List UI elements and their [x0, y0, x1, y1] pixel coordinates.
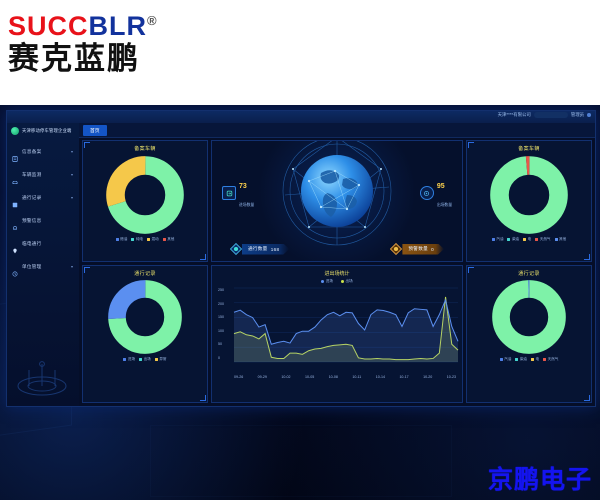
y-tick-label: 100 [218, 329, 224, 333]
sidebar-item-label: 临电通行 [22, 241, 42, 247]
tab-home[interactable]: 首页 [83, 125, 107, 136]
x-tick-label: 10-23 [447, 375, 456, 379]
ribbon-value: 0 [431, 247, 434, 252]
tab-bar: 首页 [79, 123, 595, 138]
ribbon-label: 预警数量 [408, 246, 428, 252]
donut-svg [492, 280, 566, 354]
line-chart-legend: 进场 出场 [212, 277, 462, 284]
legend-item: 纯电 [131, 237, 143, 242]
legend-bottom-left: 进场 出场 异常 [83, 357, 207, 362]
bell-icon [12, 218, 18, 224]
legend-label: 其他 [167, 237, 174, 242]
donut-svg [490, 156, 568, 234]
x-tick-label: 09-29 [258, 375, 267, 379]
entry-icon [222, 186, 236, 200]
donut-svg [106, 156, 184, 234]
legend-label: 进场 [128, 357, 135, 362]
legend-top-left: 燃油 纯电 混动 其他 [83, 237, 207, 242]
legend-label: 电 [536, 357, 540, 362]
legend-label: 其他 [559, 237, 566, 242]
legend-item: 天然气 [535, 237, 550, 242]
donut-chart-bottom-left [83, 277, 207, 357]
ribbon-value: 168 [271, 247, 280, 252]
card-title: 备案车辆 [467, 141, 591, 152]
pin-icon [12, 241, 18, 247]
legend-label: 混动 [152, 237, 159, 242]
sidebar-item-record[interactable]: 信息备案 ▾ [7, 140, 79, 163]
ribbon-pass-count: 通行数量 168 [230, 243, 289, 255]
stat-value: 73 [239, 183, 247, 190]
document-icon [12, 149, 18, 155]
sidebar-logo-icon [11, 127, 19, 135]
y-tick-label: 200 [218, 302, 224, 306]
ribbon-text: 通行数量 168 [242, 244, 289, 255]
logo-blr-text: BLR [89, 11, 148, 41]
card-title: 通行记录 [467, 266, 591, 277]
list-icon [12, 195, 18, 201]
x-tick-label: 10-08 [329, 375, 338, 379]
sidebar-item-temp-pass[interactable]: 临电通行 [7, 232, 79, 255]
logo-chinese-name: 赛克蓝鹏 [8, 41, 158, 77]
app-topbar: 天津****有限公司 管理员 [7, 111, 595, 123]
x-tick-label: 10-14 [376, 375, 385, 379]
x-tick-label: 10-05 [305, 375, 314, 379]
legend-item: 汽油 [492, 237, 504, 242]
legend-top-right: 汽油 柴油 电 天然气 其他 [467, 237, 591, 242]
sidebar-watermark-icon [15, 356, 69, 400]
legend-item: 天然气 [543, 357, 558, 362]
content-area: 首页 备案车辆 燃油 纯电 混动 其他 [79, 123, 595, 406]
line-chart-x-labels: 09-2609-2910-0210-0510-0810-1110-1410-17… [212, 375, 462, 379]
legend-item: 出场 [139, 357, 151, 362]
clock-icon [12, 264, 18, 270]
donut-svg [108, 280, 182, 354]
ribbon-alert-count: 预警数量 0 [390, 243, 444, 255]
card-top-left-registered-vehicles: 备案车辆 燃油 纯电 混动 其他 [82, 140, 208, 262]
y-tick-label: 250 [218, 288, 224, 292]
legend-label: 天然气 [540, 237, 551, 242]
stat-entry-count: 73 进场数量 [222, 175, 254, 211]
legend-item: 电 [531, 357, 539, 362]
legend-bottom-right: 汽油 柴油 电 天然气 [467, 357, 591, 362]
brand-header: SUCCBLR® 赛克蓝鹏 [0, 0, 600, 105]
ribbon-label: 通行数量 [248, 246, 268, 252]
legend-item: 其他 [163, 237, 175, 242]
diamond-icon [230, 243, 242, 255]
parking-dashboard-app: 天津****有限公司 管理员 天津移动停车管理企业端 信息备案 ▾ [6, 110, 596, 407]
legend-label: 电 [528, 237, 532, 242]
room-deco-bottom [150, 425, 452, 497]
topbar-pill [534, 112, 568, 118]
topbar-account-text: 天津****有限公司 [498, 112, 531, 118]
legend-item: 燃油 [116, 237, 128, 242]
legend-label: 天然气 [548, 357, 559, 362]
topbar-avatar-icon[interactable] [587, 113, 591, 117]
topbar-account-area[interactable]: 天津****有限公司 管理员 [498, 112, 591, 118]
legend-item: 其他 [555, 237, 567, 242]
monitor-photo: 天津****有限公司 管理员 天津移动停车管理企业端 信息备案 ▾ [0, 105, 600, 500]
stat-value: 95 [437, 183, 445, 190]
ribbon-text: 预警数量 0 [402, 244, 444, 255]
logo-succ-text: SUCC [8, 11, 89, 41]
legend-item: 异常 [155, 357, 167, 362]
sidebar-item-label: 通行记录 [22, 195, 42, 201]
x-tick-label: 10-02 [281, 375, 290, 379]
chevron-down-icon: ▾ [71, 149, 73, 154]
card-top-right-registered-vehicles: 备案车辆 汽油 柴油 电 天然气 其他 [466, 140, 592, 262]
donut-chart-top-left [83, 152, 207, 237]
chevron-down-icon: ▾ [71, 195, 73, 200]
diamond-icon [390, 243, 402, 255]
card-title: 通行记录 [83, 266, 207, 277]
card-bottom-left-pass-records: 通行记录 进场 出场 异常 [82, 265, 208, 403]
exit-icon [420, 186, 434, 200]
stat-label: 进场数量 [239, 203, 254, 207]
topbar-role-text: 管理员 [571, 112, 584, 118]
legend-label: 出场 [144, 357, 151, 362]
sidebar: 天津移动停车管理企业端 信息备案 ▾ 车辆监测 ▾ 通行 [7, 123, 80, 406]
line-chart-svg [212, 284, 462, 372]
globe-icon [277, 140, 397, 251]
chevron-down-icon: ▾ [71, 264, 73, 269]
x-tick-label: 10-11 [352, 375, 361, 379]
line-chart-y-labels: 250200150100500 [218, 288, 224, 360]
legend-item: 进场 [123, 357, 135, 362]
sidebar-item-label: 预警信息 [22, 218, 42, 224]
card-bottom-right-pass-records: 通行记录 汽油 柴油 电 天然气 [466, 265, 592, 403]
company-logo: SUCCBLR® 赛克蓝鹏 [8, 6, 158, 77]
legend-label: 柴油 [520, 357, 527, 362]
x-tick-label: 10-20 [423, 375, 432, 379]
card-title: 备案车辆 [83, 141, 207, 152]
card-center-globe: 73 进场数量 95 出场数量 [211, 140, 463, 262]
stat-label: 出场数量 [437, 203, 452, 207]
legend-label: 柴油 [512, 237, 519, 242]
donut-chart-top-right [467, 152, 591, 237]
sidebar-item-label: 车辆监测 [22, 172, 42, 178]
legend-label: 异常 [159, 357, 166, 362]
car-icon [12, 172, 18, 178]
legend-item: 柴油 [507, 237, 519, 242]
x-tick-label: 10-17 [399, 375, 408, 379]
y-tick-label: 50 [218, 342, 224, 346]
legend-item: 汽油 [500, 357, 512, 362]
sidebar-item-alerts[interactable]: 预警信息 [7, 209, 79, 232]
sidebar-item-org-management[interactable]: 单位管理 ▾ [7, 255, 79, 278]
card-inout-statistics: 进出场统计 进场 出场 09-2609-2910-0210-0510-0810-… [211, 265, 463, 403]
legend-label: 纯电 [136, 237, 143, 242]
legend-item: 电 [523, 237, 531, 242]
donut-chart-bottom-right [467, 277, 591, 357]
line-chart-title: 进出场统计 [212, 266, 462, 277]
legend-label: 汽油 [504, 357, 511, 362]
legend-item: 混动 [147, 237, 159, 242]
sidebar-item-pass-records[interactable]: 通行记录 ▾ [7, 186, 79, 209]
sidebar-title: 天津移动停车管理企业端 [22, 128, 71, 134]
legend-label: 燃油 [120, 237, 127, 242]
registered-trademark-icon: ® [147, 13, 158, 28]
photo-watermark: 京鹏电子 [488, 460, 592, 496]
dashboard-grid: 备案车辆 燃油 纯电 混动 其他 [79, 137, 595, 406]
x-tick-label: 09-26 [234, 375, 243, 379]
sidebar-header: 天津移动停车管理企业端 [7, 123, 79, 140]
y-tick-label: 0 [218, 356, 224, 360]
sidebar-item-label: 单位管理 [22, 264, 42, 270]
sidebar-item-label: 信息备案 [22, 149, 42, 155]
y-tick-label: 150 [218, 315, 224, 319]
chevron-down-icon: ▾ [71, 172, 73, 177]
legend-item: 柴油 [515, 357, 527, 362]
logo-latin-name: SUCCBLR® [8, 6, 158, 41]
legend-label: 汽油 [496, 237, 503, 242]
sidebar-item-vehicle-monitor[interactable]: 车辆监测 ▾ [7, 163, 79, 186]
stat-exit-count: 95 出场数量 [420, 175, 452, 211]
